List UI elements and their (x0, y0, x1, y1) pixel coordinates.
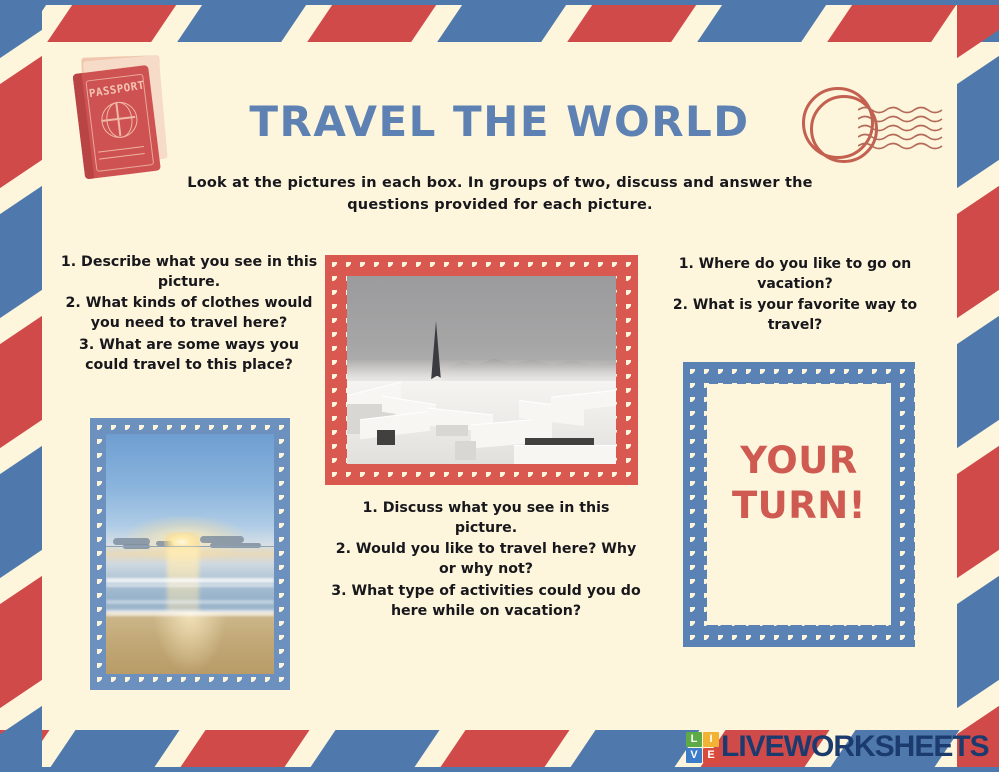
list-item: 2. Would you like to travel here? Why or… (330, 539, 642, 579)
right-question-list: 1. Where do you like to go on vacation? … (662, 255, 928, 337)
logo-wordmark: LIVEWORKSHEETS (721, 730, 989, 764)
beach-sunset-photo (106, 434, 274, 674)
list-item: 1. Discuss what you see in this picture. (330, 498, 642, 538)
snowy-village-stamp (325, 255, 638, 485)
your-turn-line2: TURN! (732, 484, 866, 527)
envelope-edge-line-bottom (0, 767, 999, 772)
instructions-text: Look at the pictures in each box. In gro… (185, 172, 815, 217)
list-item: 1. Where do you like to go on vacation? (662, 255, 928, 295)
logo-letter-v: V (686, 748, 702, 763)
left-question-list: 1. Describe what you see in this picture… (58, 252, 320, 376)
liveworksheets-logo: L I V E LIVEWORKSHEETS (686, 730, 989, 764)
your-turn-stamp[interactable]: YOUR TURN! (683, 362, 915, 647)
logo-letter-l: L (686, 732, 702, 747)
logo-letter-i: I (703, 732, 719, 747)
list-item: 2. What kinds of clothes would you need … (58, 293, 320, 333)
list-item: 1. Describe what you see in this picture… (58, 252, 320, 292)
list-item: 2. What is your favorite way to travel? (662, 296, 928, 336)
page-title: TRAVEL THE WORLD (0, 97, 999, 146)
logo-letter-e: E (703, 748, 719, 763)
live-logo-blocks: L I V E (686, 732, 719, 763)
envelope-border-top (0, 0, 999, 42)
snowy-village-photo (347, 276, 616, 464)
your-turn-heading: YOUR TURN! (683, 438, 915, 528)
envelope-edge-line-top (0, 0, 999, 5)
beach-sunset-stamp (90, 418, 290, 690)
your-turn-line1: YOUR (740, 439, 857, 482)
middle-question-list: 1. Discuss what you see in this picture.… (330, 498, 642, 622)
list-item: 3. What type of activities could you do … (330, 581, 642, 621)
list-item: 3. What are some ways you could travel t… (58, 335, 320, 375)
